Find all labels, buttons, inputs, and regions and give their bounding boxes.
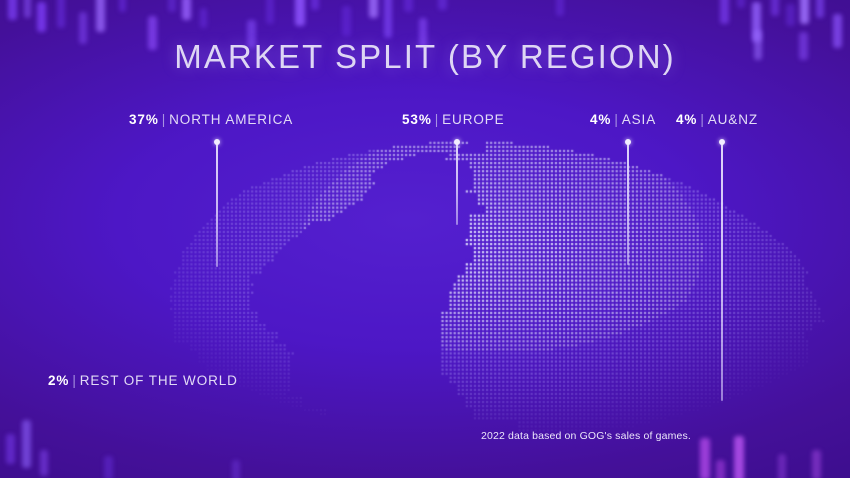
callout-europe: 53%|EUROPE [402,113,505,127]
callout-percent: 53% [402,112,432,127]
footnote: 2022 data based on GOG's sales of games. [481,430,691,442]
callout-region-label: EUROPE [442,112,504,127]
slide-root: MARKET SPLIT (BY REGION) 37%|NORTH AMERI… [0,0,850,478]
callout-separator: | [614,112,618,127]
callout-separator: | [700,112,704,127]
callout-region-label: NORTH AMERICA [169,112,293,127]
page-title: MARKET SPLIT (BY REGION) [0,38,850,76]
callout-separator: | [435,112,439,127]
callout-au-nz: 4%|AU&NZ [676,113,758,127]
callout-separator: | [162,112,166,127]
callout-region-label: REST OF THE WORLD [80,373,238,388]
callout-region-label: ASIA [622,112,656,127]
callout-rest-of-the-world: 2%|REST OF THE WORLD [48,374,238,388]
callout-separator: | [72,373,76,388]
callout-percent: 37% [129,112,159,127]
callout-asia: 4%|ASIA [590,113,656,127]
callout-percent: 2% [48,373,69,388]
callout-north-america: 37%|NORTH AMERICA [129,113,293,127]
callout-percent: 4% [590,112,611,127]
callout-percent: 4% [676,112,697,127]
callout-region-label: AU&NZ [708,112,758,127]
